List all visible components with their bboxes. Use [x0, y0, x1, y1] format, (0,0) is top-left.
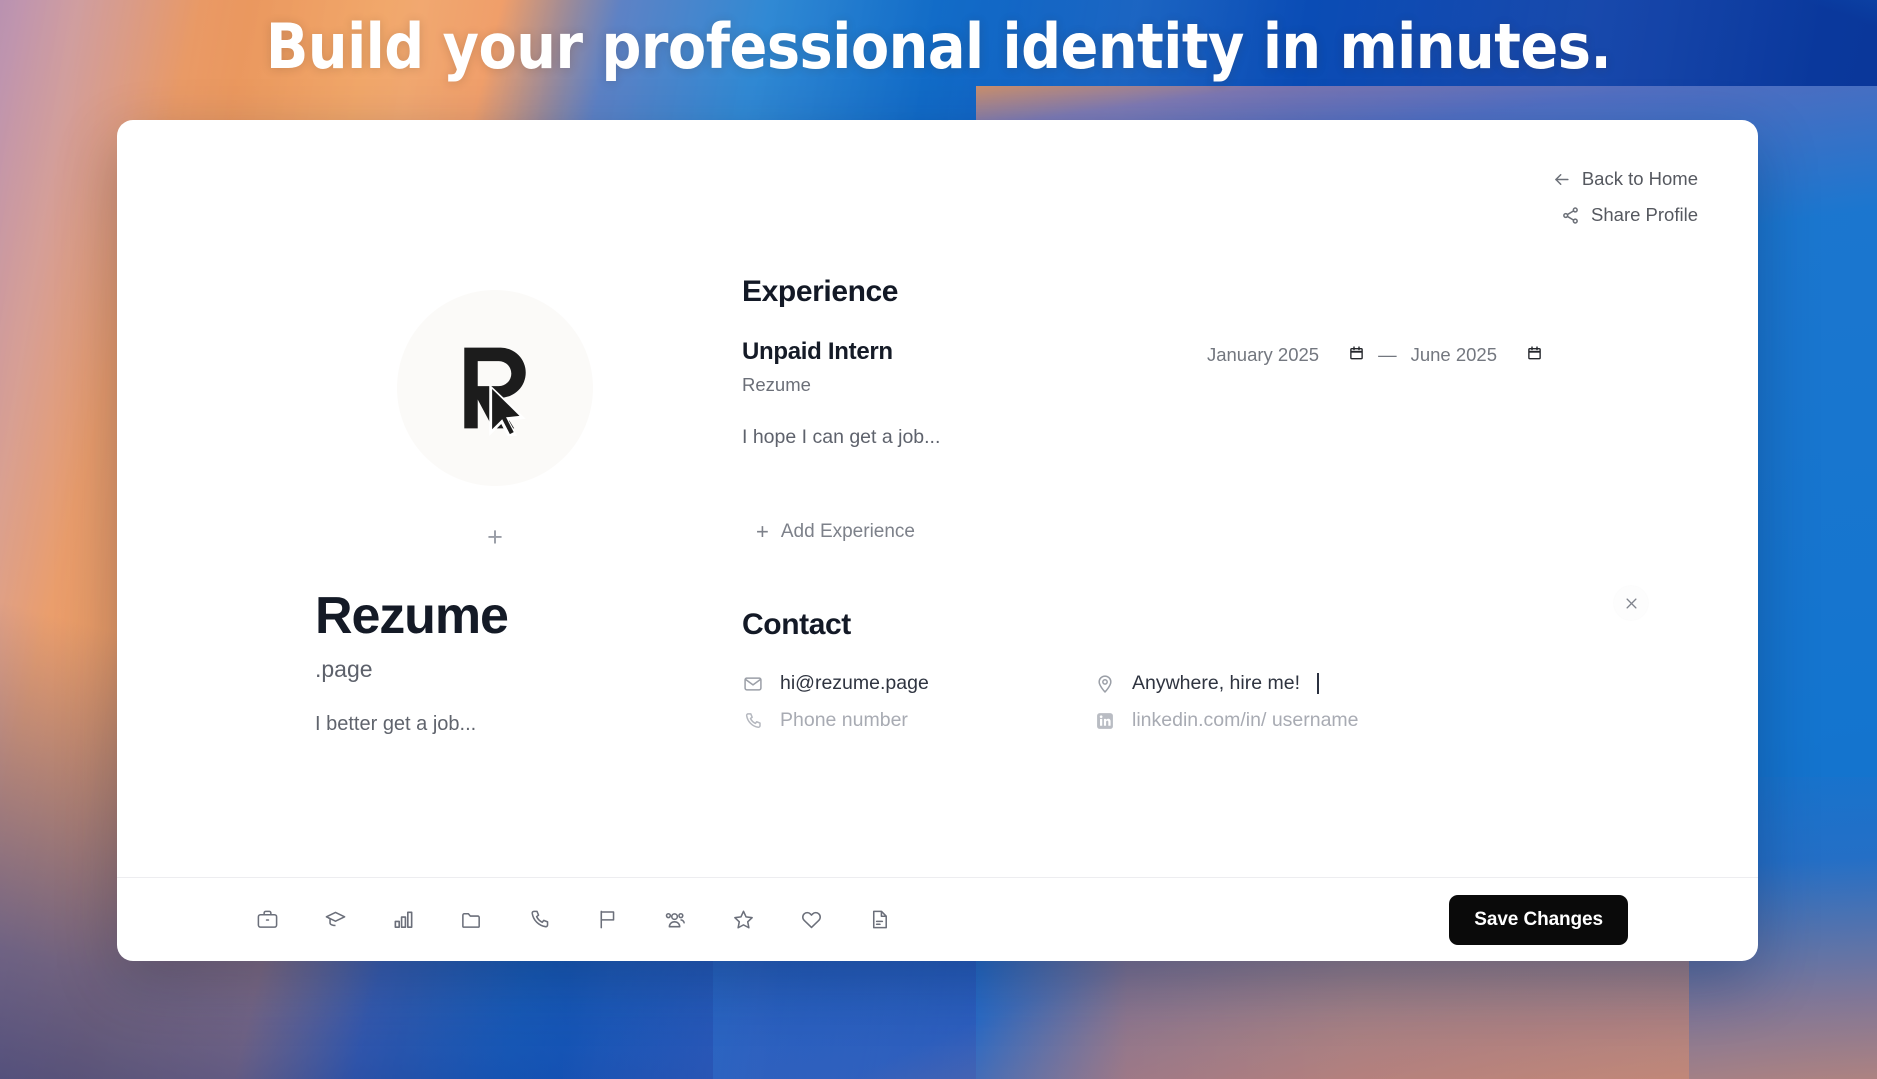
- contact-section-title: Contact: [742, 608, 1638, 642]
- bar-chart-icon[interactable]: [383, 900, 423, 940]
- profile-editor-card: Back to Home Share Profile: [117, 120, 1758, 961]
- arrow-left-icon: [1552, 170, 1571, 189]
- card-body: Back to Home Share Profile: [117, 120, 1758, 877]
- contact-phone-row[interactable]: Phone number: [742, 709, 1094, 732]
- contact-linkedin-row[interactable]: linkedin.com/in/ username: [1094, 709, 1638, 732]
- folder-icon[interactable]: [451, 900, 491, 940]
- contact-location-input[interactable]: Anywhere, hire me!: [1132, 672, 1300, 695]
- date-range-separator: —: [1378, 344, 1397, 366]
- page-headline: Build your professional identity in minu…: [0, 10, 1877, 83]
- share-icon: [1561, 206, 1580, 225]
- rezume-r-cursor-logo: [447, 340, 543, 436]
- experience-role-block: Unpaid Intern Rezume: [742, 338, 1102, 396]
- graduation-cap-icon[interactable]: [315, 900, 355, 940]
- star-icon[interactable]: [723, 900, 763, 940]
- flag-icon[interactable]: [587, 900, 627, 940]
- contact-linkedin-input[interactable]: linkedin.com/in/ username: [1132, 709, 1359, 732]
- experience-company-input[interactable]: Rezume: [742, 374, 1102, 396]
- page-background: Build your professional identity in minu…: [0, 0, 1877, 1079]
- contact-fields: hi@rezume.page Anywhere, hire me!: [742, 672, 1638, 732]
- contact-email-input[interactable]: hi@rezume.page: [780, 672, 929, 695]
- experience-description-input[interactable]: I hope I can get a job...: [742, 426, 1282, 449]
- experience-list: Unpaid Intern Rezume January 2025: [742, 338, 1638, 449]
- users-icon[interactable]: [655, 900, 695, 940]
- avatar[interactable]: [397, 290, 593, 486]
- text-cursor: [1317, 673, 1319, 694]
- experience-role-input[interactable]: Unpaid Intern: [742, 338, 1102, 366]
- save-changes-button[interactable]: Save Changes: [1449, 895, 1628, 945]
- calendar-icon: [1349, 344, 1364, 366]
- plus-icon: +: [756, 521, 769, 543]
- section-toolbar: [117, 900, 899, 940]
- experience-end-date-input[interactable]: June 2025: [1411, 344, 1542, 366]
- experience-header: Unpaid Intern Rezume January 2025: [742, 338, 1638, 396]
- profile-tagline[interactable]: I better get a job...: [315, 713, 727, 736]
- experience-section-title: Experience: [742, 275, 1638, 309]
- briefcase-icon[interactable]: [247, 900, 287, 940]
- phone-icon: [742, 711, 764, 731]
- map-pin-icon: [1094, 674, 1116, 694]
- phone-icon[interactable]: [519, 900, 559, 940]
- experience-item: Unpaid Intern Rezume January 2025: [742, 338, 1638, 449]
- contact-email-row[interactable]: hi@rezume.page: [742, 672, 1094, 695]
- contact-phone-input[interactable]: Phone number: [780, 709, 908, 732]
- heart-icon[interactable]: [791, 900, 831, 940]
- share-profile-button[interactable]: Share Profile: [1561, 204, 1698, 226]
- contact-section: Contact hi@re: [742, 608, 1638, 732]
- mail-icon: [742, 674, 764, 694]
- add-photo-button[interactable]: +: [480, 524, 510, 551]
- experience-end-date-value: June 2025: [1411, 344, 1497, 366]
- experience-start-date-input[interactable]: January 2025: [1207, 344, 1364, 366]
- close-icon[interactable]: [1614, 586, 1648, 620]
- linkedin-icon: [1094, 711, 1116, 731]
- profile-name[interactable]: Rezume: [315, 589, 727, 644]
- document-icon[interactable]: [859, 900, 899, 940]
- content-column: Experience Unpaid Intern Rezume January …: [742, 275, 1638, 732]
- calendar-icon: [1527, 344, 1542, 366]
- contact-location-row[interactable]: Anywhere, hire me!: [1094, 672, 1638, 695]
- experience-start-date-value: January 2025: [1207, 344, 1319, 366]
- experience-date-range: January 2025: [1207, 344, 1638, 366]
- add-experience-button[interactable]: + Add Experience: [756, 521, 915, 543]
- top-actions: Back to Home Share Profile: [1552, 168, 1698, 226]
- add-experience-label: Add Experience: [781, 521, 915, 543]
- card-footer: Save Changes: [117, 877, 1758, 961]
- profile-column: + Rezume .page I better get a job...: [297, 290, 727, 736]
- profile-domain: .page: [315, 656, 727, 683]
- back-to-home-label: Back to Home: [1582, 168, 1698, 190]
- back-to-home-button[interactable]: Back to Home: [1552, 168, 1698, 190]
- share-profile-label: Share Profile: [1591, 204, 1698, 226]
